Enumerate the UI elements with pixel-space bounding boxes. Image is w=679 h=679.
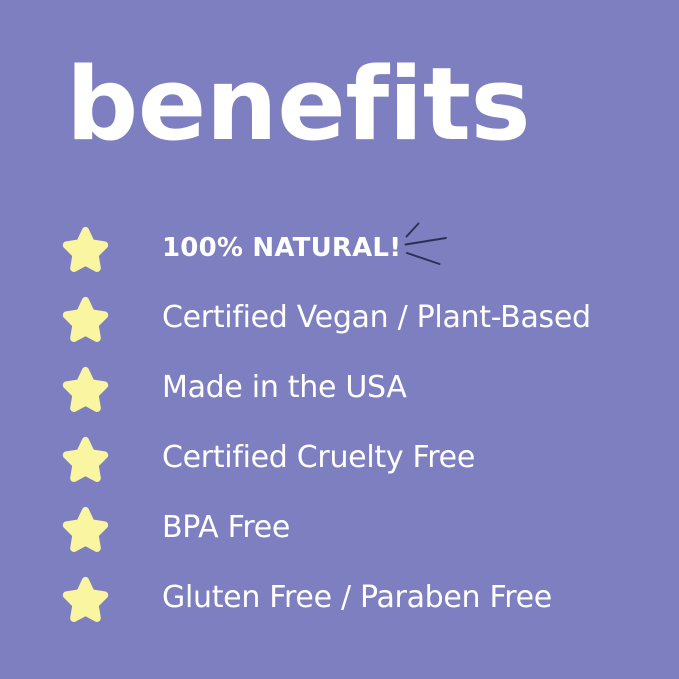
list-item-label: Gluten Free / Paraben Free: [162, 583, 552, 613]
list-item-label: Certified Cruelty Free: [162, 443, 475, 473]
list-item-label: Certified Vegan / Plant-Based: [162, 303, 591, 333]
star-icon: [62, 435, 109, 482]
list-item: Gluten Free / Paraben Free: [0, 563, 679, 633]
star-icon: [62, 505, 109, 552]
list-item: 100% NATURAL!: [0, 213, 679, 283]
star-icon: [62, 295, 109, 342]
benefits-infographic: benefits 100% NATURAL!: [0, 0, 679, 679]
star-icon: [62, 365, 109, 412]
bullet-cell: [0, 353, 162, 423]
list-item-content: Gluten Free / Paraben Free: [162, 563, 552, 633]
sparkle-lines-icon: [403, 219, 449, 271]
list-item: BPA Free: [0, 493, 679, 563]
list-item: Made in the USA: [0, 353, 679, 423]
list-item-content: Certified Cruelty Free: [162, 423, 475, 493]
star-icon: [62, 575, 109, 622]
list-item-label: Made in the USA: [162, 373, 407, 403]
bullet-cell: [0, 423, 162, 493]
list-item: Certified Vegan / Plant-Based: [0, 283, 679, 353]
bullet-cell: [0, 493, 162, 563]
list-item-content: BPA Free: [162, 493, 290, 563]
benefits-list: 100% NATURAL! Certified Vegan / Plant-Ba…: [0, 213, 679, 633]
list-item-content: Made in the USA: [162, 353, 407, 423]
list-item-label: BPA Free: [162, 513, 290, 543]
bullet-cell: [0, 563, 162, 633]
bullet-cell: [0, 283, 162, 353]
list-item: Certified Cruelty Free: [0, 423, 679, 493]
bullet-cell: [0, 213, 162, 283]
star-icon: [62, 225, 109, 272]
list-item-content: Certified Vegan / Plant-Based: [162, 283, 591, 353]
list-item-content: 100% NATURAL!: [162, 213, 449, 283]
page-title: benefits: [66, 54, 530, 155]
list-item-label: 100% NATURAL!: [162, 235, 401, 261]
